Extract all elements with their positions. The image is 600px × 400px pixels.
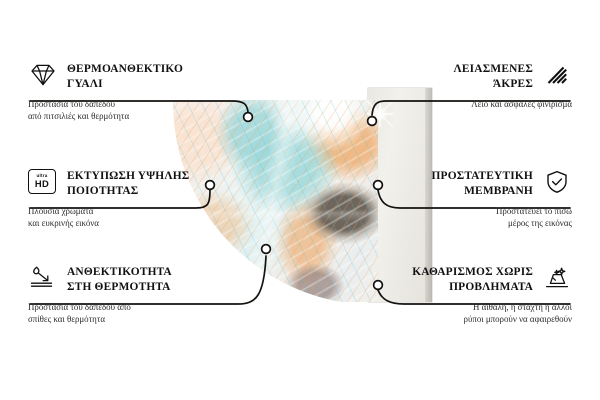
feature-title: ΕΚΤΥΠΩΣΗ ΥΨΗΛΗΣ ΠΟΙΟΤΗΤΑΣ	[67, 169, 189, 200]
feature-title: ΘΕΡΜΟΑΝΘΕΚΤΙΚΟ ΓΥΑΛΙ	[67, 62, 183, 93]
ultra-hd-bottom-label: HD	[35, 179, 49, 188]
feature-protective-membrane: ΠΡΟΣΤΑΤΕΥΤΙΚΗ ΜΕΜΒΡΑΝΗ Προστατεύει το πί…	[322, 169, 572, 230]
connector-dot-3	[262, 245, 271, 254]
feature-hassle-free-cleaning: ΚΑΘΑΡΙΣΜΟΣ ΧΩΡΙΣ ΠΡΟΒΛΗΜΑΤΑ Η αιθάλη, η …	[322, 265, 572, 326]
feature-description: Προστασία του δαπέδου από πιτσιλιές και …	[28, 98, 278, 124]
feature-title: ΠΡΟΣΤΑΤΕΥΤΙΚΗ ΜΕΜΒΡΑΝΗ	[431, 169, 533, 200]
feature-description: Προστατεύει το πίσω μέρος της εικόνας	[322, 205, 572, 231]
feature-description: Πλούσια χρώματα και ευκρινής εικόνα	[28, 205, 278, 231]
feature-description: Προστασία του δαπέδου από σπίθες και θερ…	[28, 301, 278, 327]
infographic-canvas: ΘΕΡΜΟΑΝΘΕΚΤΙΚΟ ΓΥΑΛΙ Προστασία του δαπέδ…	[0, 0, 600, 400]
flame-deflect-icon	[28, 265, 58, 291]
connector-dot-4	[368, 117, 377, 126]
feature-description: Λείο και ασφαλές φινίρισμα	[322, 98, 572, 111]
hatched-edge-icon	[542, 62, 572, 88]
diamond-icon	[28, 62, 58, 88]
feature-high-quality-print: ultra HD ΕΚΤΥΠΩΣΗ ΥΨΗΛΗΣ ΠΟΙΟΤΗΤΑΣ Πλούσ…	[28, 169, 278, 230]
feature-polished-edges: ΛΕΙΑΣΜΕΝΕΣ ΆΚΡΕΣ Λείο και ασφαλές φινίρι…	[322, 62, 572, 110]
sparkle-sponge-icon	[542, 265, 572, 291]
feature-description: Η αιθάλη, η στάχτη ή άλλοι ρύποι μπορούν…	[322, 301, 572, 327]
shield-check-icon	[542, 169, 572, 195]
feature-title: ΚΑΘΑΡΙΣΜΟΣ ΧΩΡΙΣ ΠΡΟΒΛΗΜΑΤΑ	[412, 265, 533, 296]
feature-title: ΛΕΙΑΣΜΕΝΕΣ ΆΚΡΕΣ	[454, 62, 534, 93]
ultra-hd-icon: ultra HD	[28, 169, 58, 195]
feature-title: ΑΝΘΕΚΤΙΚΟΤΗΤΑ ΣΤΗ ΘΕΡΜΟΤΗΤΑ	[67, 265, 172, 296]
feature-heat-durability: ΑΝΘΕΚΤΙΚΟΤΗΤΑ ΣΤΗ ΘΕΡΜΟΤΗΤΑ Προστασία το…	[28, 265, 278, 326]
feature-heat-resistant-glass: ΘΕΡΜΟΑΝΘΕΚΤΙΚΟ ΓΥΑΛΙ Προστασία του δαπέδ…	[28, 62, 278, 123]
